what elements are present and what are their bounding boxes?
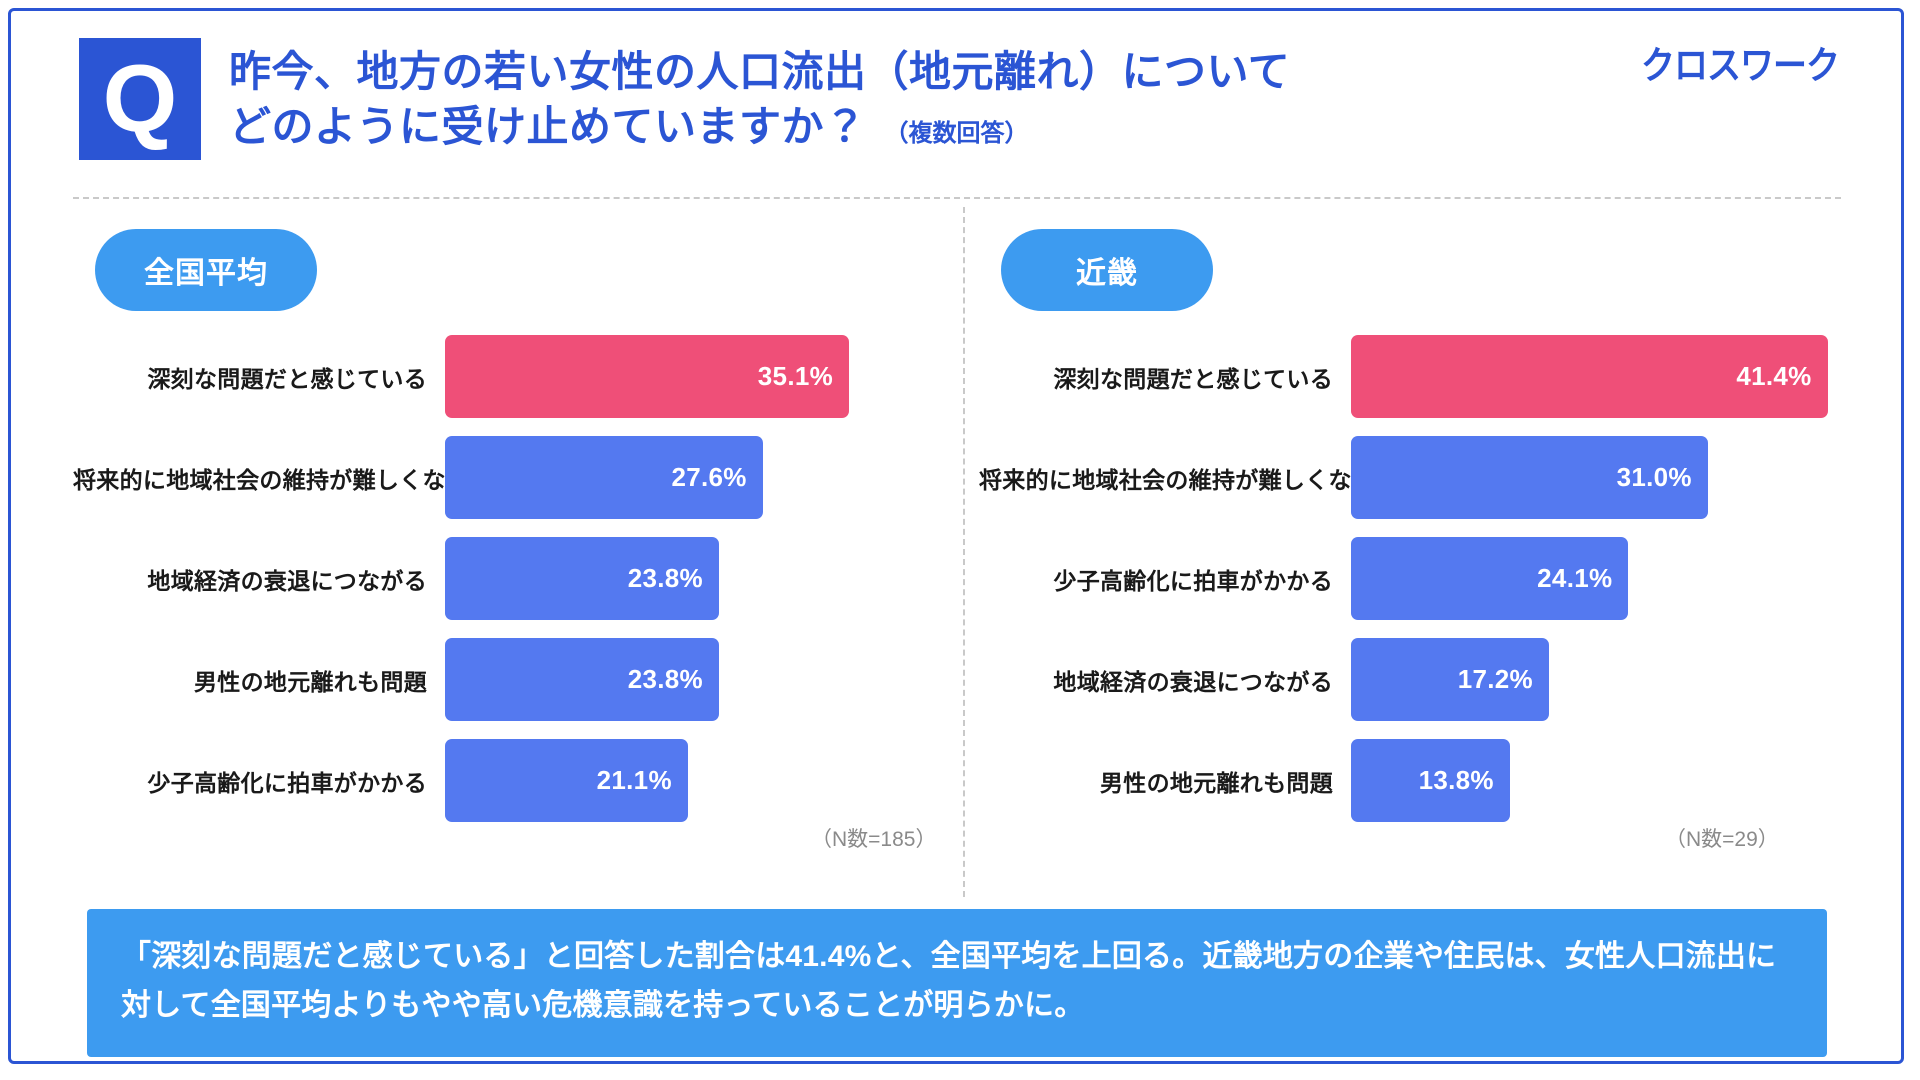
bar-track: 31.0% [1351,436,1869,519]
bar-value-label: 23.8% [628,563,703,594]
bar-track: 41.4% [1351,335,1869,418]
header-divider [73,197,1841,199]
bar-category-label: 少子高齢化に拍車がかかる [73,764,445,798]
bar: 23.8% [445,638,719,721]
bar-value-label: 35.1% [758,361,833,392]
multi-answer-note: （複数回答） [885,118,1029,149]
bar-track: 21.1% [445,739,963,822]
bar: 41.4% [1351,335,1828,418]
bar-rows-national: 深刻な問題だと感じている35.1%将来的に地域社会の維持が難しくなる27.6%地… [73,335,963,840]
question-title-line-1: 昨今、地方の若い女性の人口流出（地元離れ）について [229,45,1529,100]
crosswork-logo: クロスワーク [1641,35,1839,90]
bar-track: 24.1% [1351,537,1869,620]
bar-category-label: 少子高齢化に拍車がかかる [979,562,1351,596]
bar: 27.6% [445,436,763,519]
bar-category-label: 男性の地元離れも問題 [73,663,445,697]
infographic-frame: Q 昨今、地方の若い女性の人口流出（地元離れ）について どのように受け止めていま… [8,8,1904,1064]
bar: 21.1% [445,739,688,822]
bar-row: 地域経済の衰退につながる23.8% [73,537,963,620]
sample-size-kinki: （N数=29） [1665,823,1779,853]
charts-container: 全国平均 深刻な問題だと感じている35.1%将来的に地域社会の維持が難しくなる2… [11,207,1901,907]
summary-text: 「深刻な問題だと感じている」と回答した割合は41.4%と、全国平均を上回る。近畿… [121,933,1787,1030]
bar: 13.8% [1351,739,1510,822]
bar-track: 27.6% [445,436,963,519]
bar-value-label: 24.1% [1537,563,1612,594]
bar-category-label: 将来的に地域社会の維持が難しくなる [979,461,1351,495]
bar-row: 深刻な問題だと感じている35.1% [73,335,963,418]
bar-row: 男性の地元離れも問題23.8% [73,638,963,721]
bar-track: 13.8% [1351,739,1869,822]
bar-value-label: 13.8% [1419,765,1494,796]
bar-row: 少子高齢化に拍車がかかる24.1% [979,537,1869,620]
bar-value-label: 17.2% [1458,664,1533,695]
panel-badge-national: 全国平均 [95,229,317,311]
bar: 17.2% [1351,638,1549,721]
bar-row: 地域経済の衰退につながる17.2% [979,638,1869,721]
bar-value-label: 27.6% [671,462,746,493]
chart-panel-national: 全国平均 深刻な問題だと感じている35.1%将来的に地域社会の維持が難しくなる2… [73,207,963,907]
bar-category-label: 深刻な問題だと感じている [979,360,1351,394]
bar-value-label: 23.8% [628,664,703,695]
bar-category-label: 男性の地元離れも問題 [979,764,1351,798]
bar-row: 将来的に地域社会の維持が難しくなる31.0% [979,436,1869,519]
bar: 23.8% [445,537,719,620]
summary-banner: 「深刻な問題だと感じている」と回答した割合は41.4%と、全国平均を上回る。近畿… [87,909,1827,1057]
question-title-line-2: どのように受け止めていますか？ [229,100,867,155]
bar-row: 深刻な問題だと感じている41.4% [979,335,1869,418]
bar-track: 17.2% [1351,638,1869,721]
chart-panel-kinki: 近畿 深刻な問題だと感じている41.4%将来的に地域社会の維持が難しくなる31.… [979,207,1869,907]
bar-value-label: 21.1% [597,765,672,796]
bar-track: 35.1% [445,335,963,418]
question-title: 昨今、地方の若い女性の人口流出（地元離れ）について どのように受け止めていますか… [229,45,1529,154]
panel-badge-kinki: 近畿 [1001,229,1213,311]
bar: 24.1% [1351,537,1628,620]
bar-value-label: 41.4% [1736,361,1811,392]
bar-category-label: 地域経済の衰退につながる [73,562,445,596]
bar-track: 23.8% [445,638,963,721]
bar: 35.1% [445,335,849,418]
header: Q 昨今、地方の若い女性の人口流出（地元離れ）について どのように受け止めていま… [11,11,1901,189]
bar-row: 男性の地元離れも問題13.8% [979,739,1869,822]
bar-row: 将来的に地域社会の維持が難しくなる27.6% [73,436,963,519]
bar-row: 少子高齢化に拍車がかかる21.1% [73,739,963,822]
bar-category-label: 深刻な問題だと感じている [73,360,445,394]
question-badge: Q [79,38,201,160]
bar-value-label: 31.0% [1617,462,1692,493]
bar-rows-kinki: 深刻な問題だと感じている41.4%将来的に地域社会の維持が難しくなる31.0%少… [979,335,1869,840]
bar-category-label: 地域経済の衰退につながる [979,663,1351,697]
bar-track: 23.8% [445,537,963,620]
bar-category-label: 将来的に地域社会の維持が難しくなる [73,461,445,495]
sample-size-national: （N数=185） [811,823,936,853]
bar: 31.0% [1351,436,1708,519]
